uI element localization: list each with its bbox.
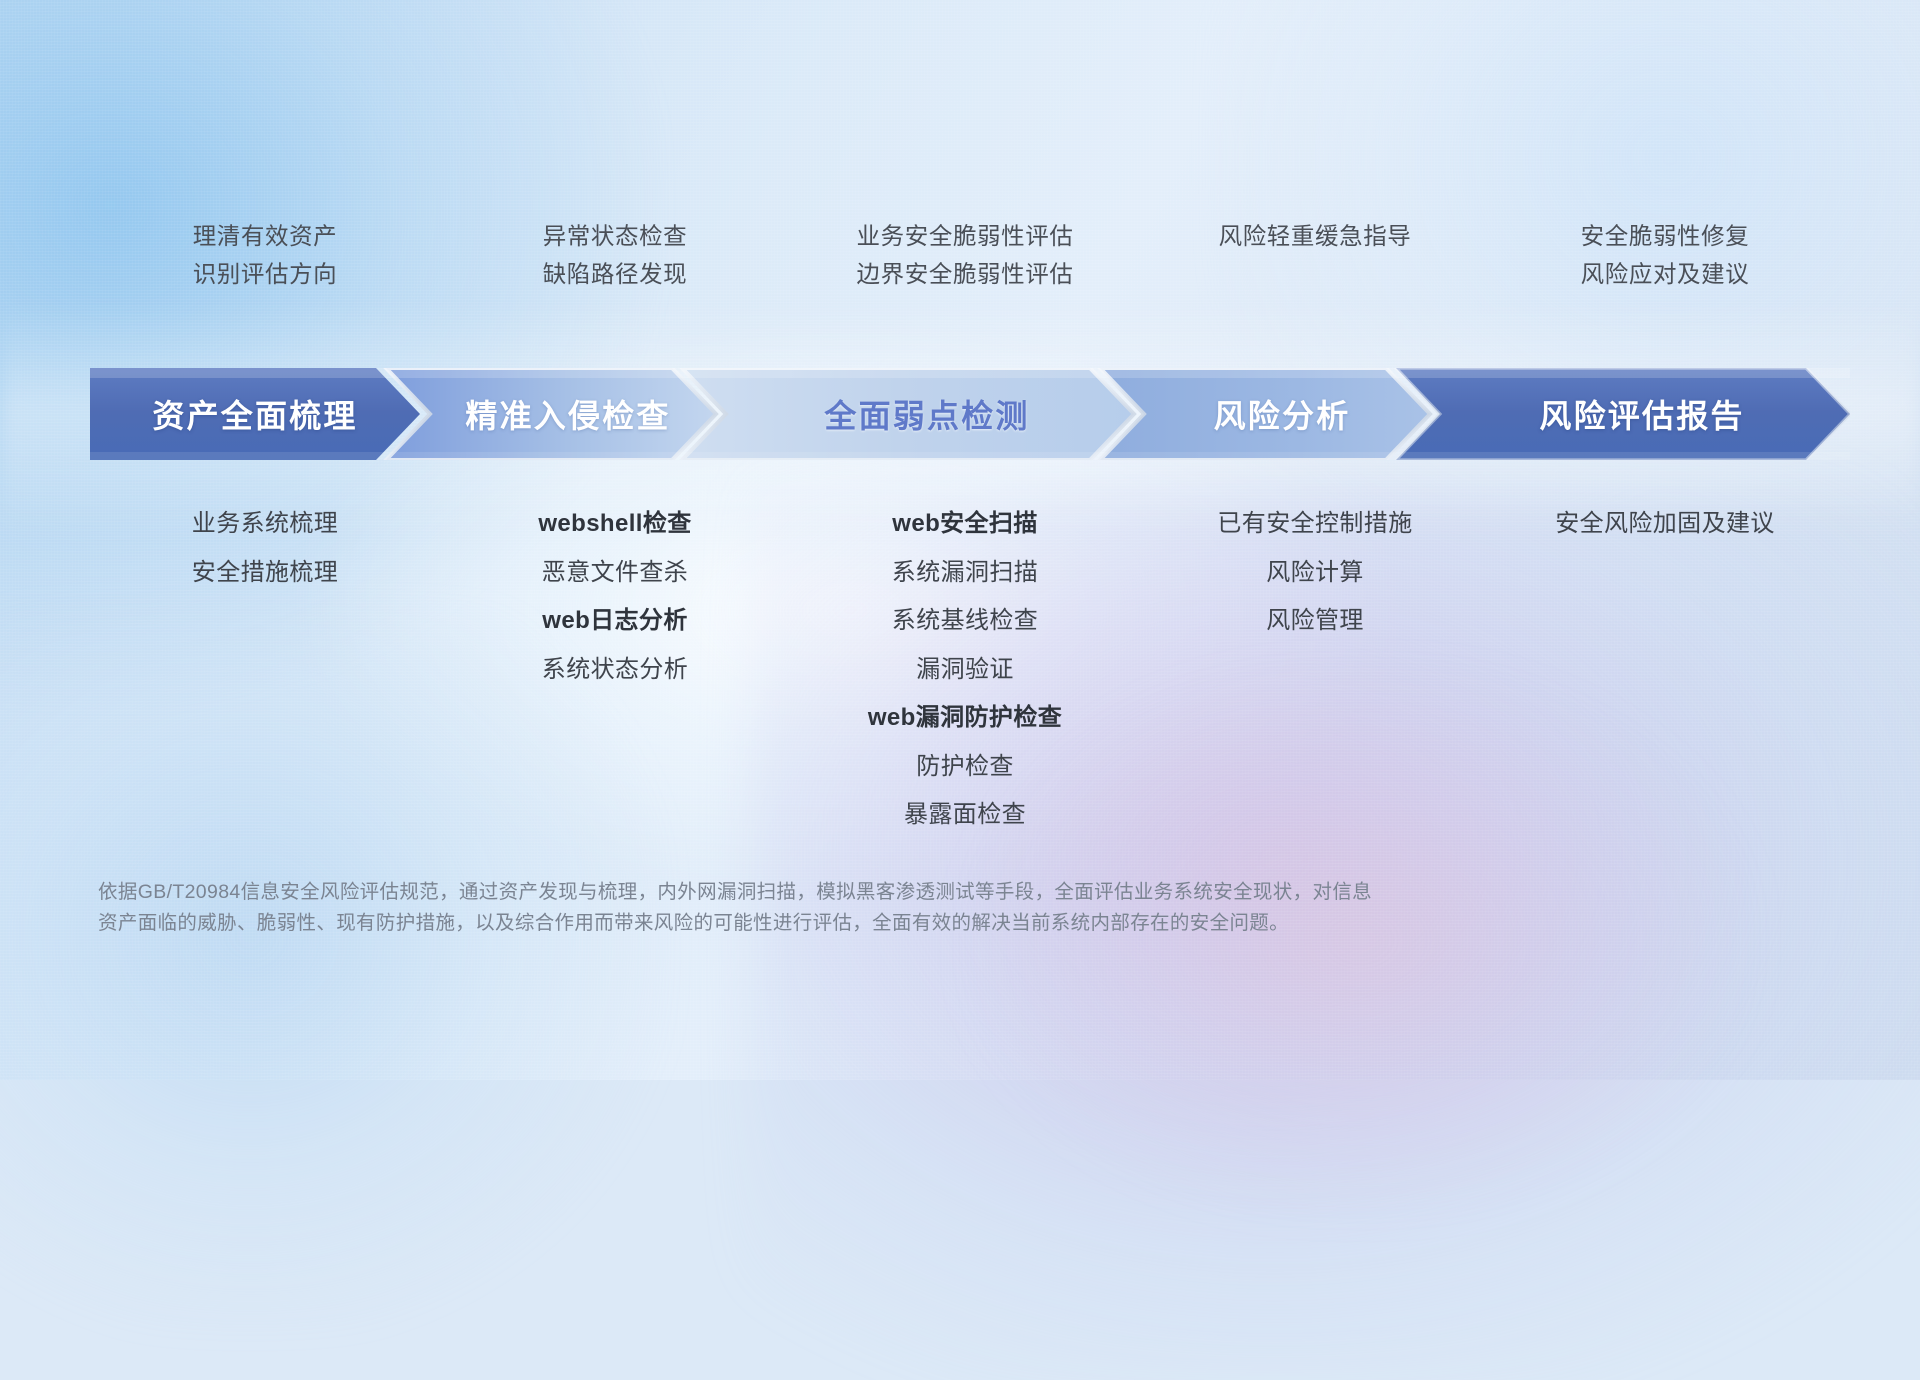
list-item: webshell检查 <box>538 500 691 549</box>
detail-list-asset-inventory: 业务系统梳理 安全措施梳理 <box>90 500 440 597</box>
list-item: 恶意文件查杀 <box>542 549 688 598</box>
chevron-ribbon-svg <box>90 368 1850 460</box>
detail-list-intrusion-check: webshell检查 恶意文件查杀 web日志分析 系统状态分析 <box>440 500 790 694</box>
list-item: 风险计算 <box>1266 549 1364 598</box>
chevron-seg-1[interactable] <box>90 368 420 460</box>
list-item: 防护检查 <box>916 743 1014 792</box>
list-item: web安全扫描 <box>892 500 1037 549</box>
top-note: 业务安全脆弱性评估 <box>857 225 1074 249</box>
list-item: 漏洞验证 <box>916 646 1014 695</box>
top-notes-risk-analysis: 风险轻重缓急指导 <box>1140 225 1490 345</box>
footer-line-1: 依据GB/T20984信息安全风险评估规范，通过资产发现与梳理，内外网漏洞扫描，… <box>98 877 1658 908</box>
list-item: 风险管理 <box>1266 597 1364 646</box>
stage-detail-lists-row: 业务系统梳理 安全措施梳理 webshell检查 恶意文件查杀 web日志分析 … <box>90 500 1840 850</box>
detail-list-weakness-detection: web安全扫描 系统漏洞扫描 系统基线检查 漏洞验证 web漏洞防护检查 防护检… <box>790 500 1140 840</box>
chevron-seg-3[interactable] <box>682 368 1134 460</box>
top-note: 安全脆弱性修复 <box>1581 225 1750 249</box>
top-note: 缺陷路径发现 <box>543 263 688 287</box>
list-item: 系统状态分析 <box>542 646 688 695</box>
stage-chevron-ribbon: 资产全面梳理 精准入侵检查 全面弱点检测 风险分析 风险评估报告 <box>90 368 1850 460</box>
chevron-seg-2[interactable] <box>386 368 716 460</box>
footer-description: 依据GB/T20984信息安全风险评估规范，通过资产发现与梳理，内外网漏洞扫描，… <box>98 877 1658 939</box>
detail-list-risk-analysis: 已有安全控制措施 风险计算 风险管理 <box>1140 500 1490 646</box>
top-note: 识别评估方向 <box>193 263 338 287</box>
top-note: 风险轻重缓急指导 <box>1219 225 1412 249</box>
stage-top-notes-row: 理清有效资产 识别评估方向 异常状态检查 缺陷路径发现 业务安全脆弱性评估 边界… <box>90 225 1840 345</box>
top-notes-intrusion-check: 异常状态检查 缺陷路径发现 <box>440 225 790 345</box>
top-notes-weakness-detection: 业务安全脆弱性评估 边界安全脆弱性评估 <box>790 225 1140 345</box>
top-notes-asset-inventory: 理清有效资产 识别评估方向 <box>90 225 440 345</box>
list-item: web日志分析 <box>542 597 687 646</box>
detail-list-risk-report: 安全风险加固及建议 <box>1490 500 1840 549</box>
list-item: 业务系统梳理 <box>192 500 338 549</box>
top-note: 理清有效资产 <box>193 225 338 249</box>
chevron-seg-4[interactable] <box>1100 368 1430 460</box>
footer-line-2: 资产面临的威胁、脆弱性、现有防护措施，以及综合作用而带来风险的可能性进行评估，全… <box>98 908 1658 939</box>
top-note: 边界安全脆弱性评估 <box>857 263 1074 287</box>
list-item: 安全措施梳理 <box>192 549 338 598</box>
list-item: 系统漏洞扫描 <box>892 549 1038 598</box>
list-item: 安全风险加固及建议 <box>1555 500 1775 549</box>
list-item: 系统基线检查 <box>892 597 1038 646</box>
list-item: web漏洞防护检查 <box>868 694 1062 743</box>
top-note: 异常状态检查 <box>543 225 688 249</box>
top-note: 风险应对及建议 <box>1581 263 1750 287</box>
top-notes-risk-report: 安全脆弱性修复 风险应对及建议 <box>1490 225 1840 345</box>
list-item: 已有安全控制措施 <box>1217 500 1412 549</box>
chevron-seg-5[interactable] <box>1396 368 1850 460</box>
list-item: 暴露面检查 <box>904 791 1026 840</box>
process-diagram: 理清有效资产 识别评估方向 异常状态检查 缺陷路径发现 业务安全脆弱性评估 边界… <box>0 0 1920 1080</box>
